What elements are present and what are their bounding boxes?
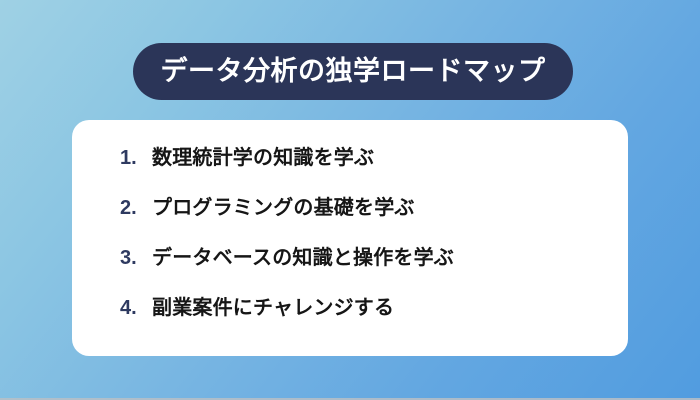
list-item: 4. 副業案件にチャレンジする: [72, 298, 628, 348]
page-title: データ分析の独学ロードマップ: [161, 58, 546, 85]
roadmap-steps-list: 1. 数理統計学の知識を学ぶ 2. プログラミングの基礎を学ぶ 3. データベー…: [72, 148, 628, 348]
step-label: 数理統計学の知識を学ぶ: [152, 148, 374, 168]
step-number: 1.: [120, 148, 152, 168]
list-item: 3. データベースの知識と操作を学ぶ: [72, 248, 628, 298]
step-label: 副業案件にチャレンジする: [152, 298, 394, 318]
list-item: 1. 数理統計学の知識を学ぶ: [72, 148, 628, 198]
steps-card: 1. 数理統計学の知識を学ぶ 2. プログラミングの基礎を学ぶ 3. データベー…: [72, 120, 628, 356]
title-banner: データ分析の独学ロードマップ: [133, 43, 573, 100]
step-label: データベースの知識と操作を学ぶ: [152, 248, 454, 268]
list-item: 2. プログラミングの基礎を学ぶ: [72, 198, 628, 248]
step-number: 2.: [120, 198, 152, 218]
step-number: 3.: [120, 248, 152, 268]
infographic-slide: データ分析の独学ロードマップ 1. 数理統計学の知識を学ぶ 2. プログラミング…: [0, 0, 700, 400]
step-number: 4.: [120, 298, 152, 318]
step-label: プログラミングの基礎を学ぶ: [152, 198, 415, 218]
